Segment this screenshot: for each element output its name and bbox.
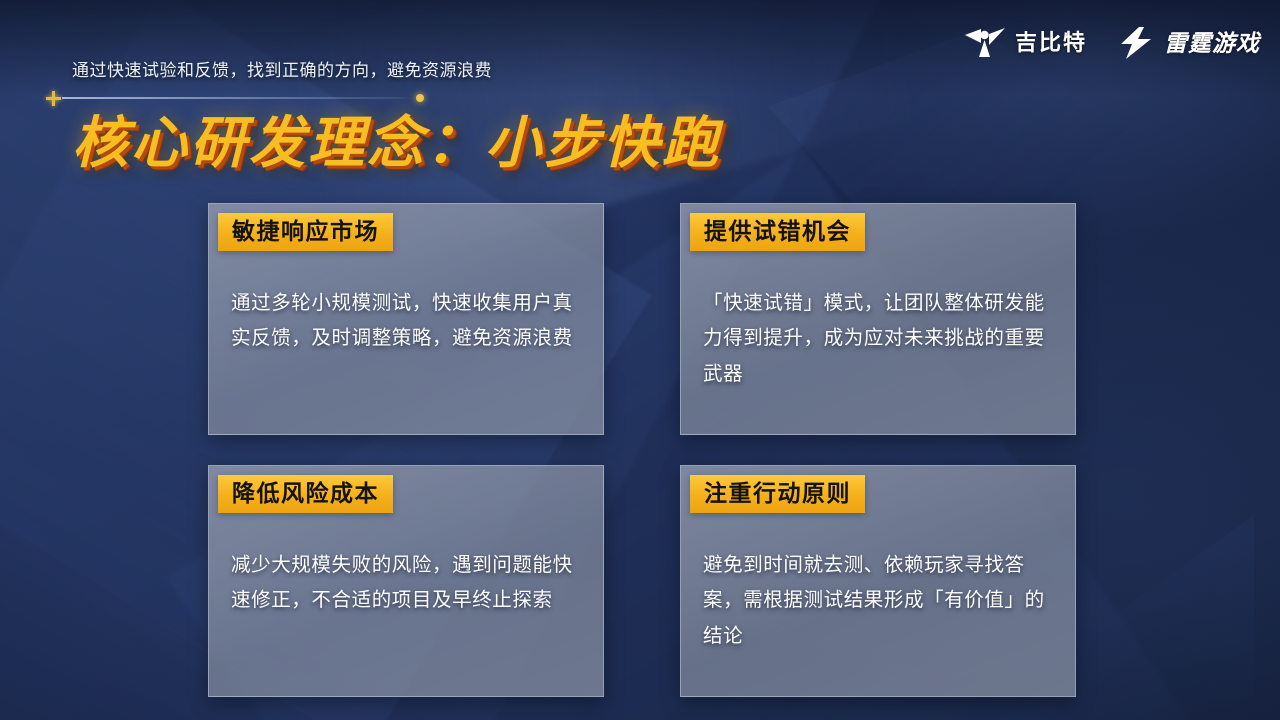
card-title-badge: 降低风险成本 — [218, 475, 393, 513]
logo-gebit: 吉比特 — [964, 26, 1087, 60]
slide-subtitle: 通过快速试验和反馈，找到正确的方向，避免资源浪费 — [72, 56, 492, 81]
card-body-text: 「快速试错」模式，让团队整体研发能力得到提升，成为应对未来挑战的重要武器 — [703, 286, 1057, 392]
card-title-badge: 敏捷响应市场 — [218, 213, 393, 251]
concept-card: 提供试错机会 「快速试错」模式，让团队整体研发能力得到提升，成为应对未来挑战的重… — [680, 203, 1076, 435]
card-body-text: 减少大规模失败的风险，遇到问题能快速修正，不合适的项目及早终止探索 — [231, 548, 585, 619]
leiting-bolt-icon — [1119, 26, 1155, 60]
gebit-angel-icon — [964, 26, 1006, 60]
brand-logo-group: 吉比特 雷霆游戏 — [964, 26, 1260, 60]
logo-leiting: 雷霆游戏 — [1119, 26, 1260, 60]
concept-card: 敏捷响应市场 通过多轮小规模测试，快速收集用户真实反馈，及时调整策略，避免资源浪… — [208, 203, 604, 435]
concept-card-grid: 敏捷响应市场 通过多轮小规模测试，快速收集用户真实反馈，及时调整策略，避免资源浪… — [208, 203, 1076, 697]
divider-end-dot-icon — [416, 94, 424, 102]
divider-line — [62, 97, 418, 99]
card-body-text: 通过多轮小规模测试，快速收集用户真实反馈，及时调整策略，避免资源浪费 — [231, 286, 585, 357]
card-title-badge: 提供试错机会 — [690, 213, 865, 251]
logo-gebit-label: 吉比特 — [1015, 32, 1087, 54]
card-body-text: 避免到时间就去测、依赖玩家寻找答案，需根据测试结果形成「有价值」的结论 — [703, 548, 1057, 654]
card-title-badge: 注重行动原则 — [690, 475, 865, 513]
plus-marker-icon — [46, 91, 61, 106]
concept-card: 降低风险成本 减少大规模失败的风险，遇到问题能快速修正，不合适的项目及早终止探索 — [208, 465, 604, 697]
page-title: 核心研发理念：小步快跑 — [72, 112, 721, 174]
concept-card: 注重行动原则 避免到时间就去测、依赖玩家寻找答案，需根据测试结果形成「有价值」的… — [680, 465, 1076, 697]
logo-leiting-label: 雷霆游戏 — [1164, 32, 1260, 55]
title-divider — [46, 88, 426, 108]
